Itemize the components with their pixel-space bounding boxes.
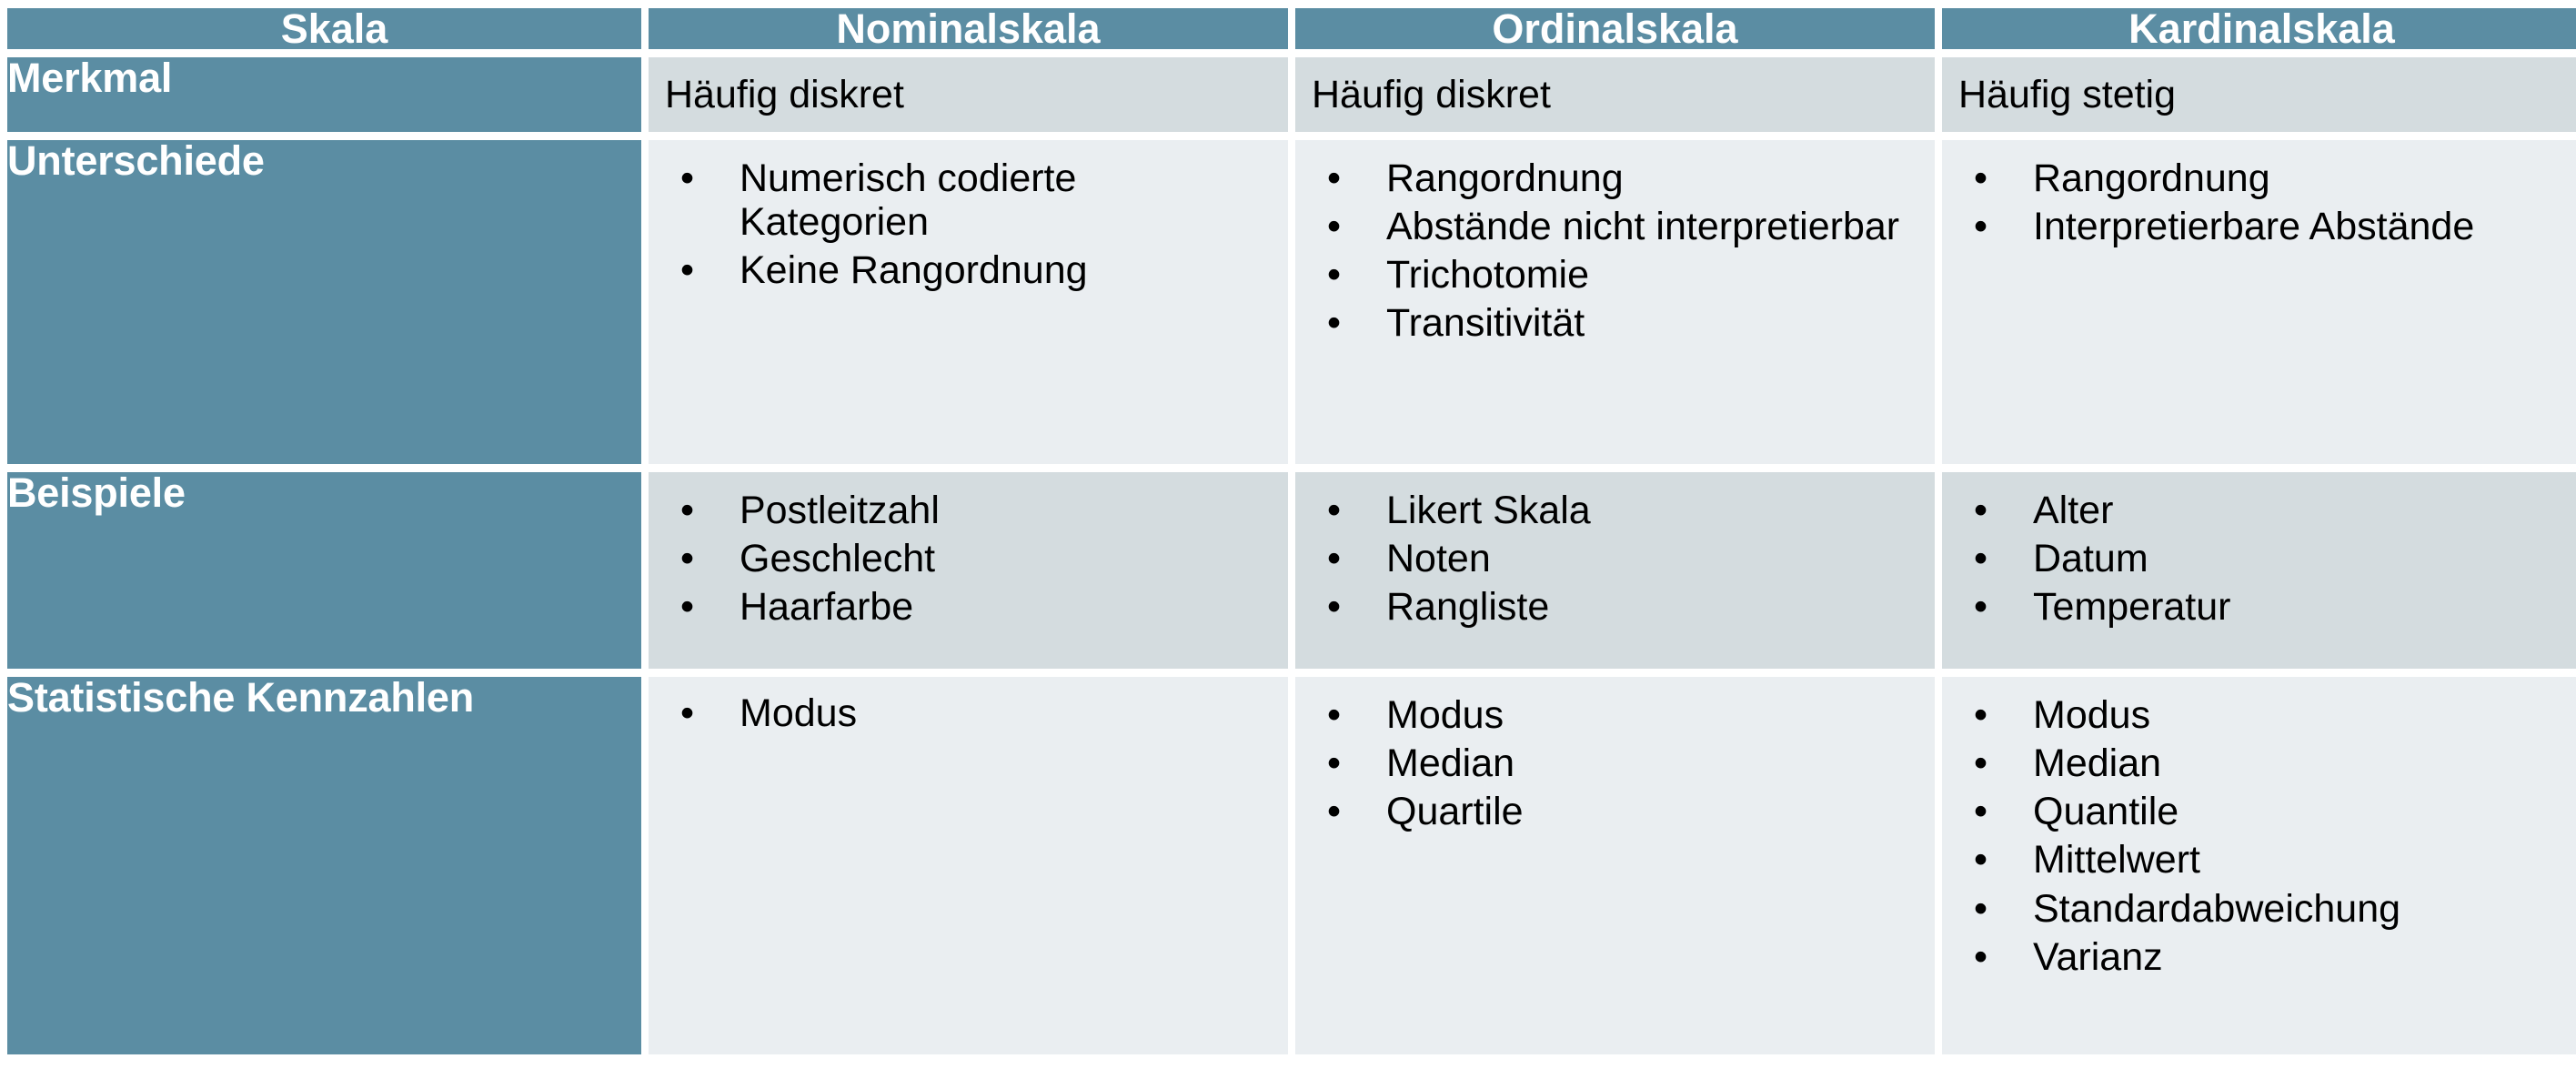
- bullet-icon: •: [1327, 537, 1341, 580]
- table-row: Merkmal Häufig diskret Häufig diskret Hä…: [7, 57, 2576, 132]
- list-item-label: Trichotomie: [1386, 253, 1589, 297]
- bullet-list: •Modus•Median•Quantile•Mittelwert•Standa…: [1955, 693, 2569, 979]
- list-item-label: Quartile: [1386, 790, 1524, 833]
- cell-beispiele-ordinalskala: •Likert Skala•Noten•Rangliste: [1295, 472, 1935, 669]
- column-header-ordinalskala: Ordinalskala: [1295, 8, 1935, 49]
- table-row: Unterschiede •Numerisch codierte Kategor…: [7, 140, 2576, 464]
- bullet-list: •Rangordnung•Interpretierbare Abstände: [1955, 156, 2569, 248]
- cell-text: Häufig diskret: [1295, 57, 1935, 115]
- list-item: •Keine Rangordnung: [661, 248, 1275, 292]
- list-item-label: Rangordnung: [2033, 156, 2270, 200]
- column-header-skala: Skala: [7, 8, 641, 49]
- list-item: •Median: [1955, 741, 2569, 785]
- list-item-label: Temperatur: [2033, 585, 2230, 629]
- bullet-list: •Numerisch codierte Kategorien•Keine Ran…: [661, 156, 1275, 292]
- list-item: •Quartile: [1308, 790, 1922, 833]
- cell-content: •Modus•Median•Quantile•Mittelwert•Standa…: [1942, 677, 2576, 992]
- bullet-icon: •: [1327, 301, 1341, 345]
- list-item-label: Abstände nicht interpretierbar: [1386, 205, 1899, 248]
- cell-unterschiede-kardinalskala: •Rangordnung•Interpretierbare Abstände: [1942, 140, 2576, 464]
- bullet-icon: •: [1974, 489, 1987, 532]
- cell-content: •Postleitzahl•Geschlecht•Haarfarbe: [649, 472, 1288, 641]
- cell-content: •Modus•Median•Quartile: [1295, 677, 1935, 846]
- cell-kennzahlen-kardinalskala: •Modus•Median•Quantile•Mittelwert•Standa…: [1942, 677, 2576, 1054]
- bullet-list: •Modus: [661, 691, 1275, 735]
- list-item: •Trichotomie: [1308, 253, 1922, 297]
- scale-comparison-table: Skala Nominalskala Ordinalskala Kardinal…: [0, 0, 2576, 1079]
- list-item: •Rangliste: [1308, 585, 1922, 629]
- list-item-label: Keine Rangordnung: [740, 248, 1088, 292]
- bullet-icon: •: [1974, 205, 1987, 248]
- list-item-label: Transitivität: [1386, 301, 1585, 345]
- cell-content: •Alter•Datum•Temperatur: [1942, 472, 2576, 641]
- list-item-label: Standardabweichung: [2033, 887, 2400, 931]
- cell-merkmal-nominalskala: Häufig diskret: [649, 57, 1288, 132]
- cell-beispiele-nominalskala: •Postleitzahl•Geschlecht•Haarfarbe: [649, 472, 1288, 669]
- cell-content: •Rangordnung•Interpretierbare Abstände: [1942, 140, 2576, 261]
- bullet-icon: •: [680, 537, 694, 580]
- bullet-icon: •: [1327, 585, 1341, 629]
- bullet-list: •Modus•Median•Quartile: [1308, 693, 1922, 833]
- list-item: •Quantile: [1955, 790, 2569, 833]
- list-item: •Temperatur: [1955, 585, 2569, 629]
- bullet-icon: •: [1974, 887, 1987, 931]
- list-item-label: Haarfarbe: [740, 585, 913, 629]
- bullet-icon: •: [680, 156, 694, 200]
- table: Skala Nominalskala Ordinalskala Kardinal…: [0, 0, 2576, 1063]
- table-body: Merkmal Häufig diskret Häufig diskret Hä…: [7, 57, 2576, 1054]
- list-item: •Interpretierbare Abstände: [1955, 205, 2569, 248]
- list-item: •Datum: [1955, 537, 2569, 580]
- list-item-label: Postleitzahl: [740, 489, 940, 532]
- bullet-icon: •: [1974, 537, 1987, 580]
- bullet-icon: •: [680, 585, 694, 629]
- list-item: •Likert Skala: [1308, 489, 1922, 532]
- bullet-icon: •: [1974, 790, 1987, 833]
- list-item: •Modus: [1955, 693, 2569, 737]
- cell-unterschiede-nominalskala: •Numerisch codierte Kategorien•Keine Ran…: [649, 140, 1288, 464]
- list-item-label: Modus: [740, 691, 857, 735]
- bullet-list: •Rangordnung•Abstände nicht interpretier…: [1308, 156, 1922, 346]
- list-item-label: Interpretierbare Abstände: [2033, 205, 2474, 248]
- bullet-icon: •: [1327, 741, 1341, 785]
- list-item: •Standardabweichung: [1955, 887, 2569, 931]
- list-item: •Rangordnung: [1955, 156, 2569, 200]
- table-header: Skala Nominalskala Ordinalskala Kardinal…: [7, 8, 2576, 49]
- list-item: •Modus: [1308, 693, 1922, 737]
- bullet-icon: •: [1974, 838, 1987, 882]
- cell-merkmal-kardinalskala: Häufig stetig: [1942, 57, 2576, 132]
- bullet-icon: •: [680, 489, 694, 532]
- bullet-icon: •: [1974, 935, 1987, 979]
- list-item: •Median: [1308, 741, 1922, 785]
- list-item-label: Modus: [1386, 693, 1504, 737]
- list-item-label: Modus: [2033, 693, 2150, 737]
- bullet-icon: •: [1974, 693, 1987, 737]
- row-header-statistische-kennzahlen: Statistische Kennzahlen: [7, 677, 641, 1054]
- row-header-beispiele: Beispiele: [7, 472, 641, 669]
- bullet-list: •Likert Skala•Noten•Rangliste: [1308, 489, 1922, 629]
- cell-content: •Modus: [649, 677, 1288, 748]
- bullet-icon: •: [1327, 253, 1341, 297]
- cell-content: •Numerisch codierte Kategorien•Keine Ran…: [649, 140, 1288, 305]
- column-header-kardinalskala: Kardinalskala: [1942, 8, 2576, 49]
- list-item-label: Rangordnung: [1386, 156, 1624, 200]
- cell-kennzahlen-nominalskala: •Modus: [649, 677, 1288, 1054]
- cell-merkmal-ordinalskala: Häufig diskret: [1295, 57, 1935, 132]
- column-header-nominalskala: Nominalskala: [649, 8, 1288, 49]
- list-item: •Postleitzahl: [661, 489, 1275, 532]
- table-row: Statistische Kennzahlen •Modus •Modus•Me…: [7, 677, 2576, 1054]
- bullet-icon: •: [680, 691, 694, 735]
- list-item-label: Mittelwert: [2033, 838, 2200, 882]
- list-item: •Alter: [1955, 489, 2569, 532]
- bullet-icon: •: [1327, 790, 1341, 833]
- list-item: •Numerisch codierte Kategorien: [661, 156, 1275, 244]
- list-item: •Modus: [661, 691, 1275, 735]
- cell-beispiele-kardinalskala: •Alter•Datum•Temperatur: [1942, 472, 2576, 669]
- list-item-label: Alter: [2033, 489, 2113, 532]
- list-item-label: Varianz: [2033, 935, 2163, 979]
- cell-content: •Rangordnung•Abstände nicht interpretier…: [1295, 140, 1935, 358]
- cell-content: •Likert Skala•Noten•Rangliste: [1295, 472, 1935, 641]
- list-item: •Noten: [1308, 537, 1922, 580]
- bullet-list: •Alter•Datum•Temperatur: [1955, 489, 2569, 629]
- bullet-icon: •: [1327, 693, 1341, 737]
- list-item: •Abstände nicht interpretierbar: [1308, 205, 1922, 248]
- list-item-label: Quantile: [2033, 790, 2179, 833]
- list-item-label: Median: [1386, 741, 1514, 785]
- cell-kennzahlen-ordinalskala: •Modus•Median•Quartile: [1295, 677, 1935, 1054]
- row-header-merkmal: Merkmal: [7, 57, 641, 132]
- bullet-icon: •: [1974, 741, 1987, 785]
- list-item: •Haarfarbe: [661, 585, 1275, 629]
- header-row: Skala Nominalskala Ordinalskala Kardinal…: [7, 8, 2576, 49]
- bullet-icon: •: [1327, 205, 1341, 248]
- list-item-label: Geschlecht: [740, 537, 935, 580]
- list-item: •Varianz: [1955, 935, 2569, 979]
- cell-unterschiede-ordinalskala: •Rangordnung•Abstände nicht interpretier…: [1295, 140, 1935, 464]
- table-row: Beispiele •Postleitzahl•Geschlecht•Haarf…: [7, 472, 2576, 669]
- list-item-label: Rangliste: [1386, 585, 1549, 629]
- cell-text: Häufig diskret: [649, 57, 1288, 115]
- bullet-icon: •: [1974, 585, 1987, 629]
- list-item: •Transitivität: [1308, 301, 1922, 345]
- list-item-label: Likert Skala: [1386, 489, 1591, 532]
- list-item-label: Noten: [1386, 537, 1491, 580]
- bullet-icon: •: [1327, 489, 1341, 532]
- list-item: •Geschlecht: [661, 537, 1275, 580]
- list-item-label: Numerisch codierte Kategorien: [740, 156, 1076, 244]
- bullet-list: •Postleitzahl•Geschlecht•Haarfarbe: [661, 489, 1275, 629]
- bullet-icon: •: [1327, 156, 1341, 200]
- bullet-icon: •: [680, 248, 694, 292]
- cell-text: Häufig stetig: [1942, 57, 2576, 115]
- list-item: •Mittelwert: [1955, 838, 2569, 882]
- list-item-label: Median: [2033, 741, 2161, 785]
- list-item: •Rangordnung: [1308, 156, 1922, 200]
- row-header-unterschiede: Unterschiede: [7, 140, 641, 464]
- list-item-label: Datum: [2033, 537, 2148, 580]
- bullet-icon: •: [1974, 156, 1987, 200]
